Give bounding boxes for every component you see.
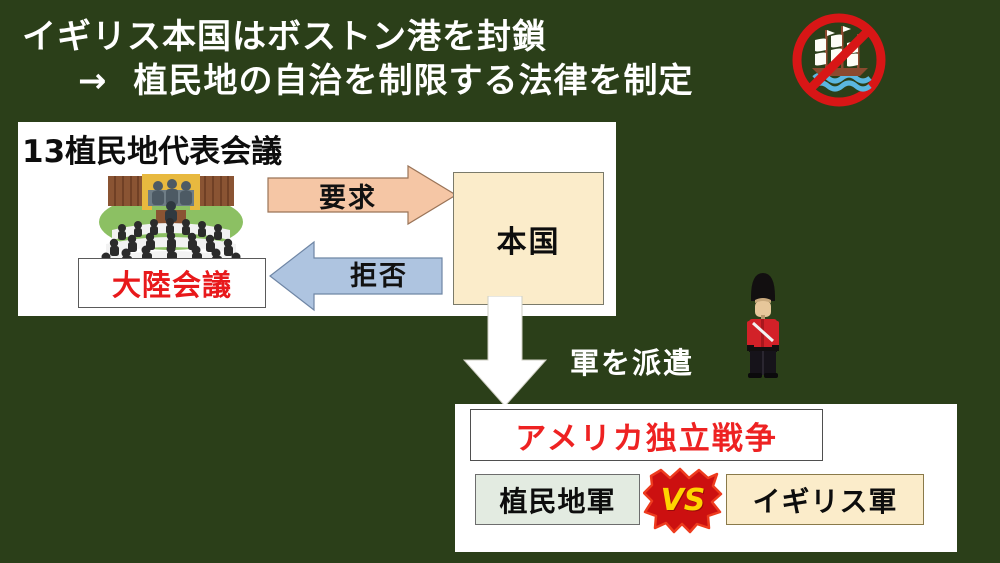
home-country-box: 本国 xyxy=(453,172,604,305)
war-name-box: アメリカ独立戦争 xyxy=(470,409,823,461)
no-ship-icon xyxy=(788,10,890,110)
dispatch-army-label: 軍を派遣 xyxy=(570,340,694,382)
demand-arrow: 要求 xyxy=(266,164,458,226)
header-line-2-text: 植民地の自治を制限する法律を制定 xyxy=(134,61,694,101)
panel-title-13-colonies: 13植民地代表会議 xyxy=(22,126,282,171)
continental-congress-box: 大陸会議 xyxy=(78,258,266,308)
dispatch-down-arrow xyxy=(462,296,548,408)
colonial-army-label: 植民地軍 xyxy=(499,480,615,520)
war-name-label: アメリカ独立戦争 xyxy=(515,413,777,458)
refuse-arrow: 拒否 xyxy=(268,240,444,312)
british-guard-soldier-icon xyxy=(735,267,791,379)
demand-arrow-label: 要求 xyxy=(288,176,408,215)
header-line-1: イギリス本国はボストン港を封鎖 xyxy=(22,18,547,56)
british-army-label: イギリス軍 xyxy=(752,480,897,520)
header-line-2: →植民地の自治を制限する法律を制定 xyxy=(78,62,694,100)
versus-badge: VS xyxy=(643,466,723,534)
home-country-label: 本国 xyxy=(497,217,561,261)
british-army-box: イギリス軍 xyxy=(726,474,924,525)
slide-canvas: イギリス本国はボストン港を封鎖 →植民地の自治を制限する法律を制定 xyxy=(0,0,1000,563)
versus-label: VS xyxy=(643,466,723,534)
congress-assembly-illustration xyxy=(86,168,256,272)
right-arrow-icon: → xyxy=(78,62,108,100)
colonial-army-box: 植民地軍 xyxy=(475,474,640,525)
continental-congress-label: 大陸会議 xyxy=(112,262,232,304)
refuse-arrow-label: 拒否 xyxy=(324,254,434,293)
